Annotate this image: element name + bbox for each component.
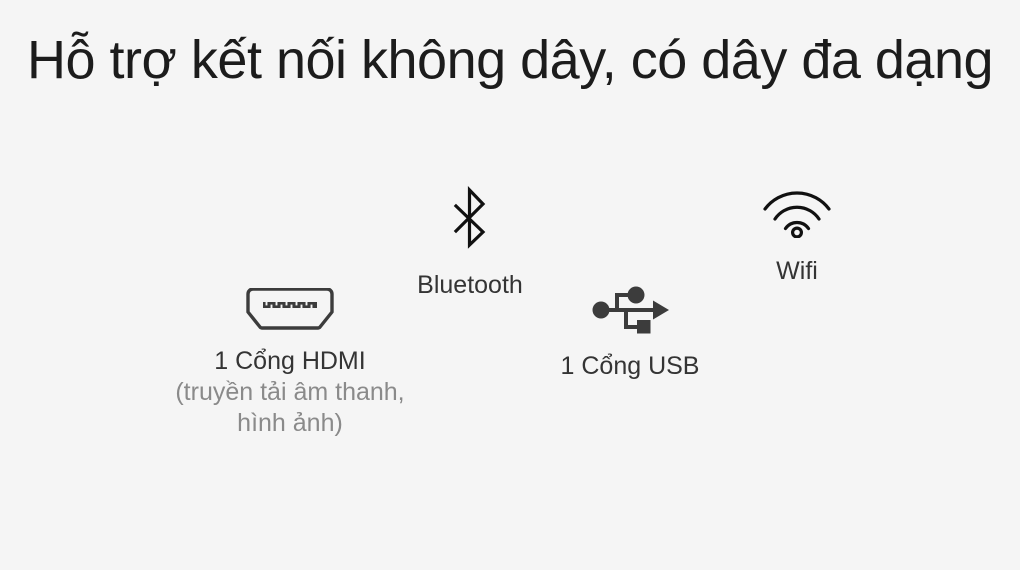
promo-graphic: Hỗ trợ kết nối không dây, có dây đa dạng: [0, 0, 1020, 570]
wifi-icon: [722, 188, 872, 238]
feature-usb: 1 Cổng USB: [520, 283, 740, 382]
feature-wifi: Wifi: [722, 188, 872, 287]
feature-usb-caption: 1 Cổng USB: [520, 351, 740, 382]
usb-icon: [520, 283, 740, 337]
feature-wifi-caption: Wifi: [722, 256, 872, 287]
page-title: Hỗ trợ kết nối không dây, có dây đa dạng: [0, 28, 1020, 92]
feature-hdmi-subcaption-line2: hình ảnh): [110, 408, 470, 439]
bluetooth-icon: [380, 186, 560, 256]
feature-hdmi-caption: 1 Cổng HDMI: [110, 346, 470, 377]
feature-hdmi: 1 Cổng HDMI (truyền tải âm thanh, hình ả…: [110, 288, 470, 439]
feature-hdmi-subcaption-line1: (truyền tải âm thanh,: [110, 377, 470, 408]
